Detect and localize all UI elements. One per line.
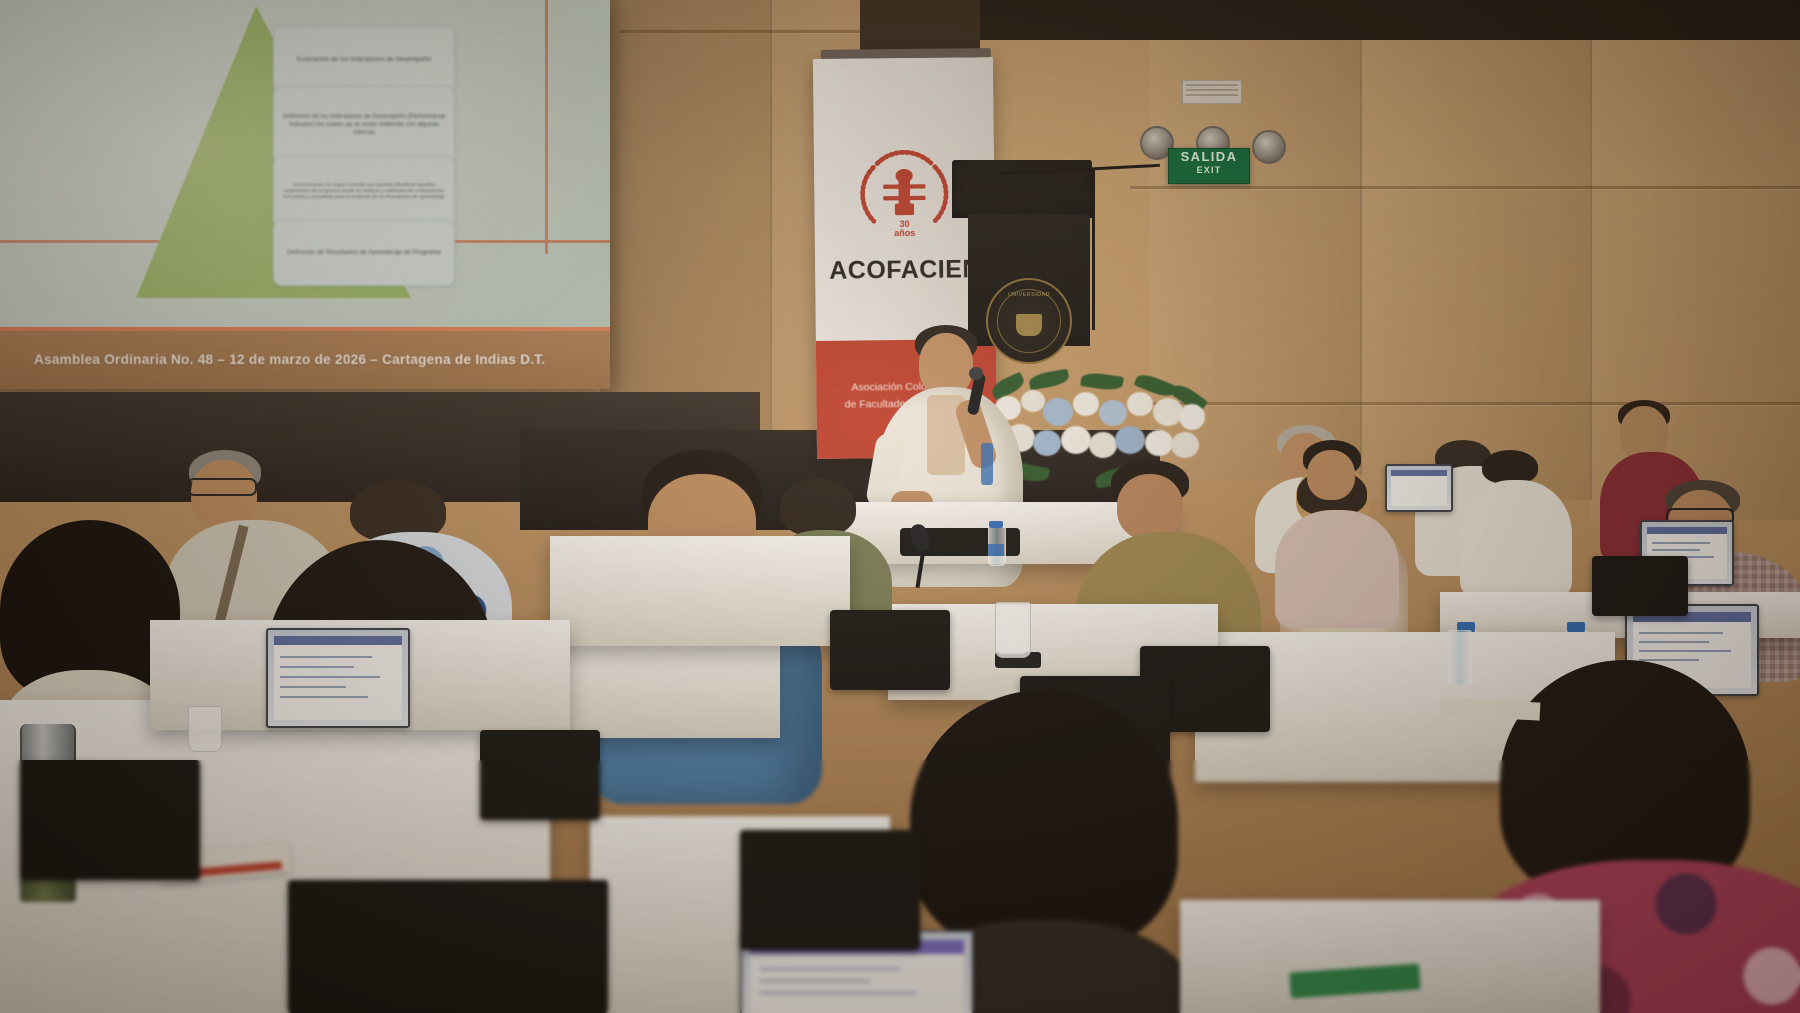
ceiling-band [860,0,1800,40]
banquet-chair [288,880,608,1013]
exit-sign: SALIDA EXIT [1168,148,1250,184]
laptop-left-back [266,628,410,728]
banquet-chair [1592,556,1688,616]
banquet-chair [20,760,200,880]
slide-footer-text: Asamblea Ordinaria No. 48 – 12 de marzo … [34,352,545,367]
exit-sign-exit: EXIT [1169,165,1249,175]
attendee-back-right [1460,450,1580,590]
banner-pole [821,48,991,59]
coffee-cup [995,602,1031,658]
table-center-back [550,536,850,646]
seal-label: UNIVERSIDAD [988,292,1070,298]
banquet-chair [480,730,600,820]
exit-sign-salida: SALIDA [1169,149,1249,165]
banquet-chair [740,830,920,950]
coffee-cup [188,706,222,752]
eyeglasses-icon [187,478,257,496]
attendee-behind [1285,440,1395,540]
banner-anniversary: 30años [894,220,915,239]
table-foreground-right [1180,900,1600,1013]
wall-shadow [600,0,840,430]
photo-scene: Evaluación de los Indicadores de Desempe… [0,0,1800,1013]
microphone-stand [1092,170,1095,330]
projection-screen: Evaluación de los Indicadores de Desempe… [0,0,610,389]
banquet-chair [830,610,950,690]
wall-vent [1182,80,1242,104]
ceiling-spotlight-3 [1252,130,1286,164]
